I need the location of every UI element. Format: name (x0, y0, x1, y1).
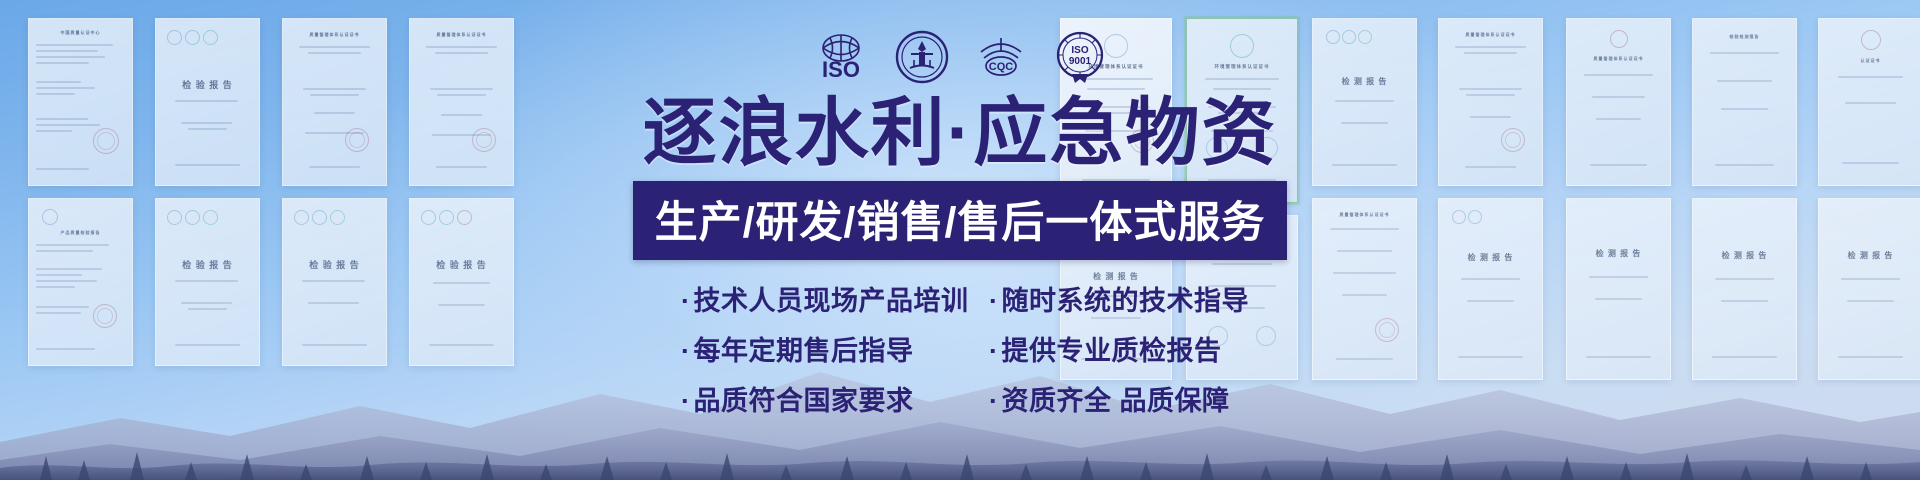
feature-item: ·每年定期售后指导 (681, 329, 971, 368)
svg-text:CQC: CQC (989, 61, 1014, 73)
feature-item: ·资质齐全 品质保障 (989, 379, 1239, 418)
feature-label: 随时系统的技术指导 (1002, 286, 1250, 316)
feature-label: 提供专业质检报告 (1002, 336, 1222, 366)
svg-text:ISO: ISO (1071, 45, 1088, 56)
bullet-icon: · (681, 336, 691, 366)
feature-label: 品质符合国家要求 (694, 386, 914, 416)
promo-banner: 中国质量认证中心 产品质量检验报告 (0, 0, 1920, 480)
svg-text:9001: 9001 (1069, 56, 1092, 67)
iso-badge: ISO (813, 31, 869, 88)
iso-9001-badge: ISO 9001 (1053, 30, 1107, 89)
certification-badges: ISO (813, 31, 1107, 87)
cqc-badge: CQC (975, 32, 1027, 87)
feature-item: ·技术人员现场产品培训 (681, 279, 971, 318)
bullet-icon: · (681, 286, 691, 316)
page-title: 逐浪水利·应急物资 (643, 95, 1278, 170)
bullet-icon: · (989, 286, 999, 316)
bullet-icon: · (989, 336, 999, 366)
svg-text:ISO: ISO (822, 57, 860, 82)
quality-seal-badge (895, 30, 949, 89)
feature-item: ·提供专业质检报告 (989, 329, 1239, 368)
feature-item: ·随时系统的技术指导 (989, 279, 1239, 318)
feature-list: ·技术人员现场产品培训 ·随时系统的技术指导 ·每年定期售后指导 ·提供专业质检… (681, 279, 1239, 418)
subtitle-bar: 生产/研发/销售/售后一体式服务 (633, 181, 1288, 260)
feature-item: ·品质符合国家要求 (681, 379, 971, 418)
feature-label: 每年定期售后指导 (694, 336, 914, 366)
feature-label: 技术人员现场产品培训 (694, 286, 969, 316)
banner-content: ISO (0, 0, 1920, 480)
bullet-icon: · (681, 386, 691, 416)
bullet-icon: · (989, 386, 999, 416)
feature-label: 资质齐全 品质保障 (1002, 386, 1230, 416)
